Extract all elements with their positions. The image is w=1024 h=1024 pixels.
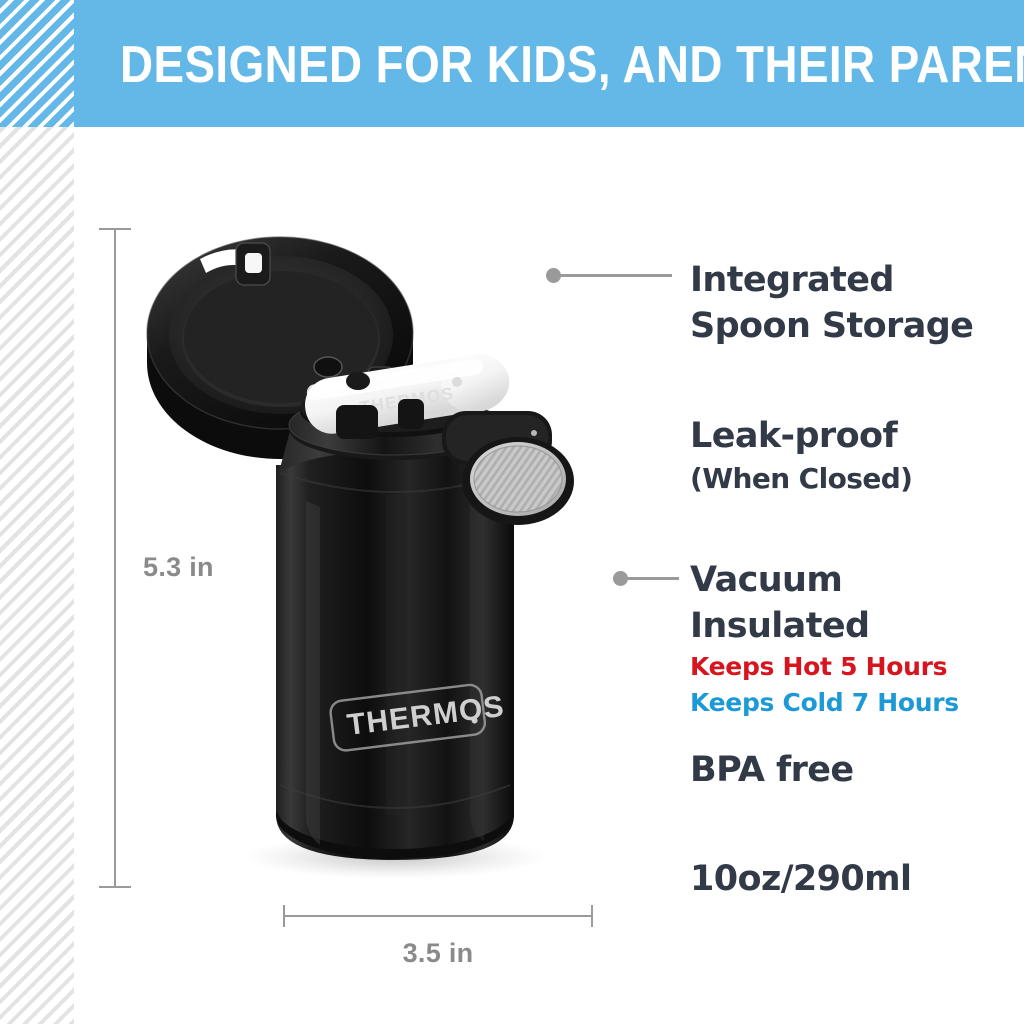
feature-spoon-storage: Integrated Spoon Storage [690, 257, 973, 349]
feature-leak-proof-line1: Leak-proof [690, 413, 912, 459]
width-cap-right [591, 905, 593, 927]
decorative-stripe-column [0, 0, 74, 1024]
feature-spoon-storage-line1: Integrated [690, 257, 973, 303]
feature-leak-proof-line2: (When Closed) [690, 459, 912, 499]
feature-vacuum-insulated-line1: Vacuum Insulated [690, 557, 1024, 649]
width-cap-left [283, 905, 285, 927]
lid-hinge-tab [236, 243, 270, 285]
height-dimension-label: 5.3 in [143, 552, 214, 583]
height-cap-bottom [99, 886, 131, 888]
callout-line-vacuum-insulated [623, 577, 679, 580]
width-dimension-label: 3.5 in [0, 938, 876, 969]
feature-capacity-line1: 10oz/290ml [690, 856, 911, 902]
feature-vacuum-insulated: Vacuum Insulated Keeps Hot 5 Hours Keeps… [690, 557, 1024, 721]
latch-button[interactable] [462, 437, 574, 525]
infographic-canvas: DESIGNED FOR KIDS, AND THEIR PARENTS [0, 0, 1024, 1024]
page-title: DESIGNED FOR KIDS, AND THEIR PARENTS [120, 30, 859, 100]
feature-leak-proof: Leak-proof (When Closed) [690, 413, 912, 499]
feature-keeps-cold: Keeps Cold 7 Hours [690, 685, 1024, 721]
feature-capacity: 10oz/290ml [690, 856, 911, 902]
callout-line-spoon-storage [556, 274, 672, 277]
feature-bpa-free: BPA free [690, 747, 854, 793]
stripe-pattern-header [0, 0, 74, 127]
width-dimension-line [283, 915, 593, 917]
stripe-pattern-body [0, 127, 74, 1024]
height-dimension-line [114, 228, 116, 888]
feature-bpa-free-line1: BPA free [690, 747, 854, 793]
height-cap-top [99, 228, 131, 230]
feature-keeps-hot: Keeps Hot 5 Hours [690, 649, 1024, 685]
feature-spoon-storage-line2: Spoon Storage [690, 303, 973, 349]
